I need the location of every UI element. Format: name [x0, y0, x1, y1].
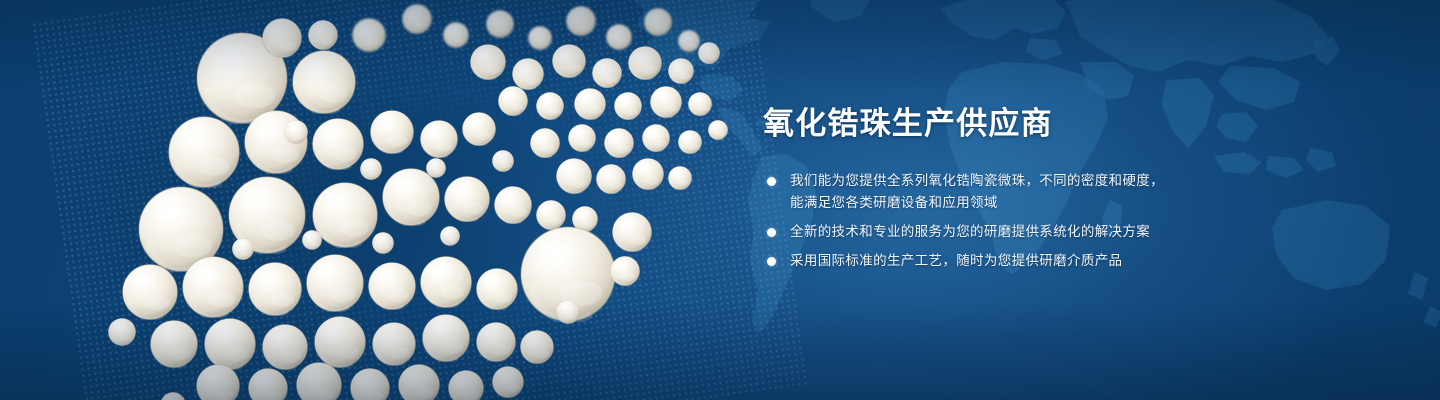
feature-bullet-list: 我们能为您提供全系列氧化锆陶瓷微珠，不同的密度和硬度， 能满足您各类研磨设备和应… [763, 170, 1323, 272]
list-item: 全新的技术和专业的服务为您的研磨提供系统化的解决方案 [763, 221, 1323, 243]
bullet-line-1: 采用国际标准的生产工艺，随时为您提供研磨介质产品 [790, 250, 1323, 272]
list-item: 采用国际标准的生产工艺，随时为您提供研磨介质产品 [763, 250, 1323, 272]
bullet-dot-icon [767, 177, 776, 186]
list-item: 我们能为您提供全系列氧化锆陶瓷微珠，不同的密度和硬度， 能满足您各类研磨设备和应… [763, 170, 1323, 214]
hero-banner: 氧化锆珠生产供应商 我们能为您提供全系列氧化锆陶瓷微珠，不同的密度和硬度， 能满… [0, 0, 1440, 400]
bullet-line-1: 全新的技术和专业的服务为您的研磨提供系统化的解决方案 [790, 221, 1323, 243]
bullet-line-2: 能满足您各类研磨设备和应用领域 [790, 192, 1323, 214]
page-title: 氧化锆珠生产供应商 [763, 104, 1323, 144]
bullet-dot-icon [767, 228, 776, 237]
bullet-line-1: 我们能为您提供全系列氧化锆陶瓷微珠，不同的密度和硬度， [790, 170, 1323, 192]
bullet-dot-icon [767, 257, 776, 266]
banner-copy-block: 氧化锆珠生产供应商 我们能为您提供全系列氧化锆陶瓷微珠，不同的密度和硬度， 能满… [763, 104, 1323, 272]
